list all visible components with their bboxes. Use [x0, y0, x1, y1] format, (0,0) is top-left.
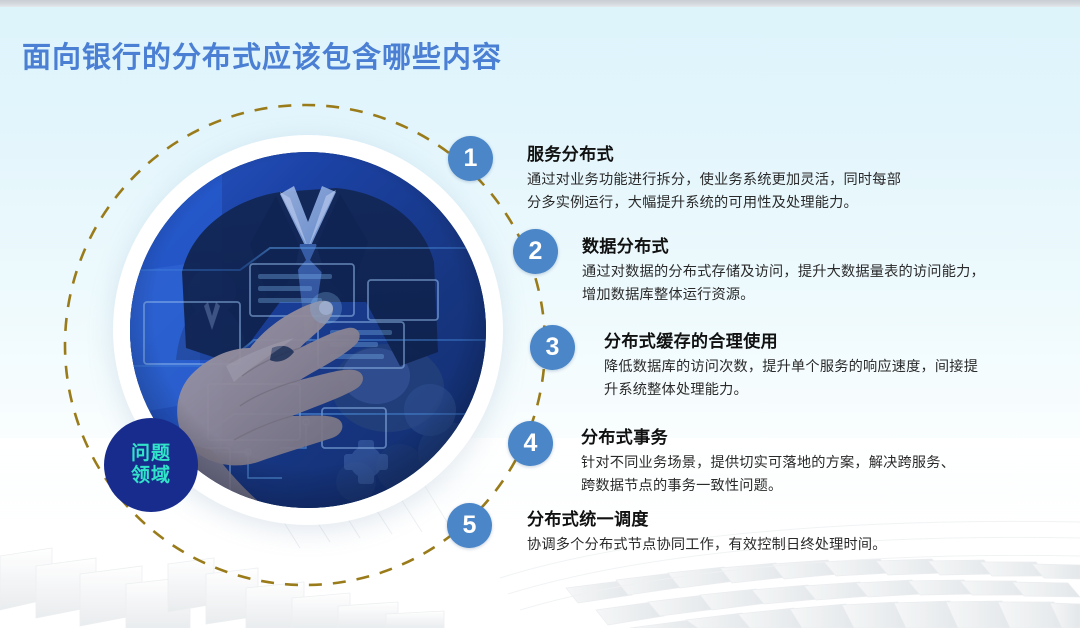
item-number-badge-4: 4	[508, 421, 553, 466]
item-body-3: 降低数据库的访问次数，提升单个服务的响应速度，间接提 升系统整体处理能力。	[604, 356, 1024, 402]
top-window-strip	[0, 0, 1080, 7]
item-body-4: 针对不同业务场景，提供切实可落地的方案，解决跨服务、 跨数据节点的事务一致性问题…	[581, 452, 1001, 498]
problem-domain-badge: 问题 领域	[104, 418, 198, 512]
item-body-1: 通过对业务功能进行拆分，使业务系统更加灵活，同时每部 分多实例运行，大幅提升系统…	[527, 169, 947, 215]
item-heading-1: 服务分布式	[527, 140, 947, 165]
item-body-2: 通过对数据的分布式存储及访问，提升大数据量表的访问能力， 增加数据库整体运行资源…	[582, 261, 1012, 307]
item-number-badge-1: 1	[448, 136, 493, 181]
item-text-5: 分布式统一调度 协调多个分布式节点协同工作，有效控制日终处理时间。	[527, 505, 987, 557]
page-title: 面向银行的分布式应该包含哪些内容	[22, 34, 502, 76]
item-heading-3: 分布式缓存的合理使用	[604, 327, 1024, 352]
item-number-badge-3: 3	[530, 325, 575, 370]
item-number-badge-5: 5	[447, 503, 492, 548]
item-number-badge-2: 2	[513, 229, 558, 274]
item-heading-5: 分布式统一调度	[527, 505, 987, 530]
item-heading-4: 分布式事务	[581, 423, 1001, 448]
item-text-2: 数据分布式 通过对数据的分布式存储及访问，提升大数据量表的访问能力， 增加数据库…	[582, 232, 1012, 307]
item-body-5: 协调多个分布式节点协同工作，有效控制日终处理时间。	[527, 534, 987, 557]
item-text-1: 服务分布式 通过对业务功能进行拆分，使业务系统更加灵活，同时每部 分多实例运行，…	[527, 140, 947, 215]
item-text-4: 分布式事务 针对不同业务场景，提供切实可落地的方案，解决跨服务、 跨数据节点的事…	[581, 423, 1001, 498]
problem-domain-line2: 领域	[131, 465, 171, 487]
problem-domain-line1: 问题	[131, 443, 171, 465]
item-heading-2: 数据分布式	[582, 232, 1012, 257]
slide-canvas: 面向银行的分布式应该包含哪些内容	[0, 0, 1080, 628]
item-text-3: 分布式缓存的合理使用 降低数据库的访问次数，提升单个服务的响应速度，间接提 升系…	[604, 327, 1024, 402]
